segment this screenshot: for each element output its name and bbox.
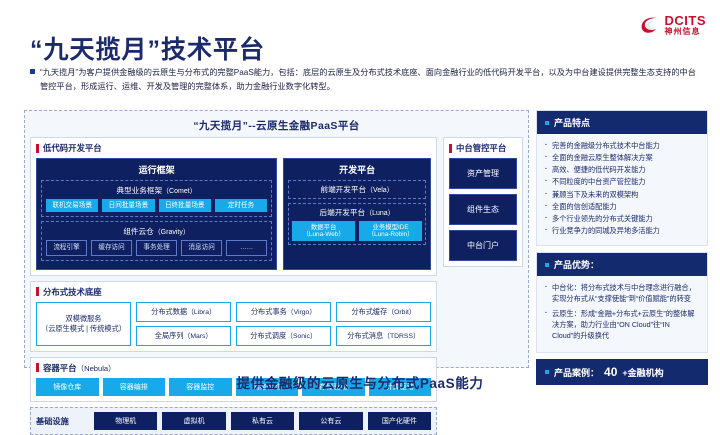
product-advantages-title: 产品优势： — [554, 258, 599, 271]
infrastructure-label: 基础设施 — [36, 415, 88, 427]
advantage-item: 中台化：将分布式技术与中台理念进行融合，实现分布式从“支撑使能”到“价值赋能”的… — [545, 282, 699, 304]
console-item-portal[interactable]: 中台门户 — [449, 230, 517, 261]
dev-platform-box[interactable]: 开发平台 前端开发平台（Vela） 后端开发平台（Luna） 数据平台 （Lun… — [283, 158, 431, 270]
dist-box-tdrss[interactable]: 分布式消息（TDRSS） — [336, 326, 431, 346]
backend-chip-luna-web[interactable]: 数据平台 （Luna-Web） — [292, 221, 355, 241]
console-platform-panel: 中台管控平台 资产管理 组件生态 中台门户 — [443, 137, 523, 267]
square-bullet-icon — [545, 263, 549, 267]
diagram-title: “九天揽月”--云原生金融PaaS平台 — [30, 115, 523, 137]
infrastructure-item[interactable]: 虚拟机 — [162, 412, 225, 430]
gravity-chip-row: 流程引擎 缓存访问 事务处理 消息访问 …… — [46, 240, 267, 255]
runtime-framework-title: 运行框架 — [37, 159, 276, 180]
console-item-component-ecosystem[interactable]: 组件生态 — [449, 194, 517, 225]
logo-brand-cn: 神州信息 — [665, 28, 707, 36]
product-advantages-card: 产品优势： 中台化：将分布式技术与中台理念进行融合，实现分布式从“支撑使能”到“… — [536, 252, 708, 353]
red-tick-icon — [36, 363, 39, 372]
infrastructure-row: 基础设施 物理机 虚拟机 私有云 公有云 国产化硬件 — [30, 407, 437, 435]
comet-group: 典型业务框架（Comet） 联机交易场景 日间批量场景 日终批量场景 定时任务 — [41, 180, 272, 217]
red-tick-icon — [449, 144, 452, 153]
gravity-title: 组件云仓（Gravity） — [46, 225, 267, 240]
infrastructure-item[interactable]: 国产化硬件 — [368, 412, 431, 430]
feature-item: 行业竞争力的同城及异地多活能力 — [545, 225, 699, 236]
red-tick-icon — [36, 144, 39, 153]
dist-col-1: 分布式数据（Libra） 全局序列（Mars） — [136, 302, 231, 346]
feature-item: 高效、便捷的低代码开发能力 — [545, 164, 699, 175]
backend-dev-platform: 后端开发平台（Luna） 数据平台 （Luna-Web） 业务模型IDE （Lu… — [288, 203, 426, 245]
lowcode-platform-title: 低代码开发平台 — [43, 142, 102, 154]
product-features-title: 产品特点 — [554, 116, 590, 129]
page-footer: 提供金融级的云原生与分布式PaaS能力 — [0, 372, 720, 392]
feature-item: 不同粒度的中台资产管控能力 — [545, 176, 699, 187]
feature-item: 完善的金融级分布式技术中台能力 — [545, 140, 699, 151]
console-platform-title: 中台管控平台 — [456, 142, 506, 154]
footer-caption: 提供金融级的云原生与分布式PaaS能力 — [0, 372, 720, 392]
square-bullet-icon — [545, 121, 549, 125]
gravity-chip[interactable]: 事务处理 — [136, 240, 177, 255]
gravity-chip-more[interactable]: …… — [226, 240, 267, 255]
dist-box-orbit[interactable]: 分布式缓存（Orbit） — [336, 302, 431, 322]
gravity-chip[interactable]: 消息访问 — [181, 240, 222, 255]
feature-item: 多个行业领先的分布式关键能力 — [545, 213, 699, 224]
comet-chip-row: 联机交易场景 日间批量场景 日终批量场景 定时任务 — [46, 199, 267, 212]
dual-mode-box[interactable]: 双模微服务 （云原生模式 | 传统模式） — [36, 302, 131, 346]
dist-col-3: 分布式缓存（Orbit） 分布式消息（TDRSS） — [336, 302, 431, 346]
info-sidebar: 产品特点 完善的金融级分布式技术中台能力 全面的金融云原生整体解决方案 高效、便… — [536, 110, 708, 385]
product-features-body: 完善的金融级分布式技术中台能力 全面的金融云原生整体解决方案 高效、便捷的低代码… — [537, 134, 707, 245]
dev-platform-title: 开发平台 — [284, 159, 430, 180]
product-advantages-header: 产品优势： — [537, 253, 707, 276]
dist-col-2: 分布式事务（Virgo） 分布式调度（Sonic） — [236, 302, 331, 346]
feature-item: 全面的信创适配能力 — [545, 201, 699, 212]
dcits-swirl-icon — [639, 15, 661, 35]
advantage-item: 云原生：形成“金融+分布式+云原生”的整体解决方案，助力行业由“ON Cloud… — [545, 308, 699, 341]
dist-box-mars[interactable]: 全局序列（Mars） — [136, 326, 231, 346]
product-features-card: 产品特点 完善的金融级分布式技术中台能力 全面的金融云原生整体解决方案 高效、便… — [536, 110, 708, 246]
feature-item: 全面的金融云原生整体解决方案 — [545, 152, 699, 163]
infrastructure-items: 物理机 虚拟机 私有云 公有云 国产化硬件 — [94, 412, 431, 430]
runtime-framework-box[interactable]: 运行框架 典型业务框架（Comet） 联机交易场景 日间批量场景 日终批量场景 … — [36, 158, 277, 270]
comet-chip[interactable]: 联机交易场景 — [46, 199, 98, 212]
distributed-base-panel: 分布式技术底座 双模微服务 （云原生模式 | 传统模式） 分布式数据（Libra… — [30, 281, 437, 352]
infrastructure-item[interactable]: 公有云 — [299, 412, 362, 430]
feature-item: 兼顾当下及未来的双模架构 — [545, 189, 699, 200]
architecture-diagram: “九天揽月”--云原生金融PaaS平台 低代码开发平台 运行框架 典型业务框架（… — [24, 110, 529, 368]
intro-paragraph: “九天揽月”为客户提供金融级的云原生与分布式的完整PaaS能力，包括：底层的云原… — [30, 66, 700, 93]
distributed-base-title: 分布式技术底座 — [43, 286, 102, 298]
backend-chip-row: 数据平台 （Luna-Web） 业务模型IDE （Luna-Robin） — [292, 221, 422, 241]
dual-mode-col: 双模微服务 （云原生模式 | 传统模式） — [36, 302, 131, 346]
backend-chip-luna-robin[interactable]: 业务模型IDE （Luna-Robin） — [359, 221, 422, 241]
comet-chip[interactable]: 日间批量场景 — [102, 199, 154, 212]
console-item-asset-management[interactable]: 资产管理 — [449, 158, 517, 189]
product-advantages-body: 中台化：将分布式技术与中台理念进行融合，实现分布式从“支撑使能”到“价值赋能”的… — [537, 276, 707, 352]
distributed-base-header: 分布式技术底座 — [36, 286, 431, 298]
console-platform-header: 中台管控平台 — [449, 142, 517, 154]
gravity-chip[interactable]: 缓存访问 — [91, 240, 132, 255]
infrastructure-item[interactable]: 物理机 — [94, 412, 157, 430]
page-header: DCITS 神州信息 “九天揽月”技术平台 “九天揽月”为客户提供金融级的云原生… — [0, 0, 720, 108]
dist-box-libra[interactable]: 分布式数据（Libra） — [136, 302, 231, 322]
comet-title: 典型业务框架（Comet） — [46, 184, 267, 199]
logo-brand-en: DCITS — [665, 14, 707, 27]
gravity-group: 组件云仓（Gravity） 流程引擎 缓存访问 事务处理 消息访问 …… — [41, 221, 272, 260]
lowcode-platform-panel: 低代码开发平台 运行框架 典型业务框架（Comet） 联机交易场景 日间批量场 — [30, 137, 437, 276]
red-tick-icon — [36, 287, 39, 296]
company-logo: DCITS 神州信息 — [639, 14, 707, 36]
lowcode-platform-header: 低代码开发平台 — [36, 142, 431, 154]
square-bullet-icon — [30, 69, 35, 74]
frontend-dev-platform[interactable]: 前端开发平台（Vela） — [288, 180, 426, 199]
product-features-header: 产品特点 — [537, 111, 707, 134]
comet-chip[interactable]: 日终批量场景 — [159, 199, 211, 212]
intro-text: “九天揽月”为客户提供金融级的云原生与分布式的完整PaaS能力，包括：底层的云原… — [40, 66, 700, 93]
dist-box-sonic[interactable]: 分布式调度（Sonic） — [236, 326, 331, 346]
comet-chip[interactable]: 定时任务 — [215, 199, 267, 212]
dist-box-virgo[interactable]: 分布式事务（Virgo） — [236, 302, 331, 322]
gravity-chip[interactable]: 流程引擎 — [46, 240, 87, 255]
infrastructure-item[interactable]: 私有云 — [231, 412, 294, 430]
page-title: “九天揽月”技术平台 — [30, 30, 265, 66]
